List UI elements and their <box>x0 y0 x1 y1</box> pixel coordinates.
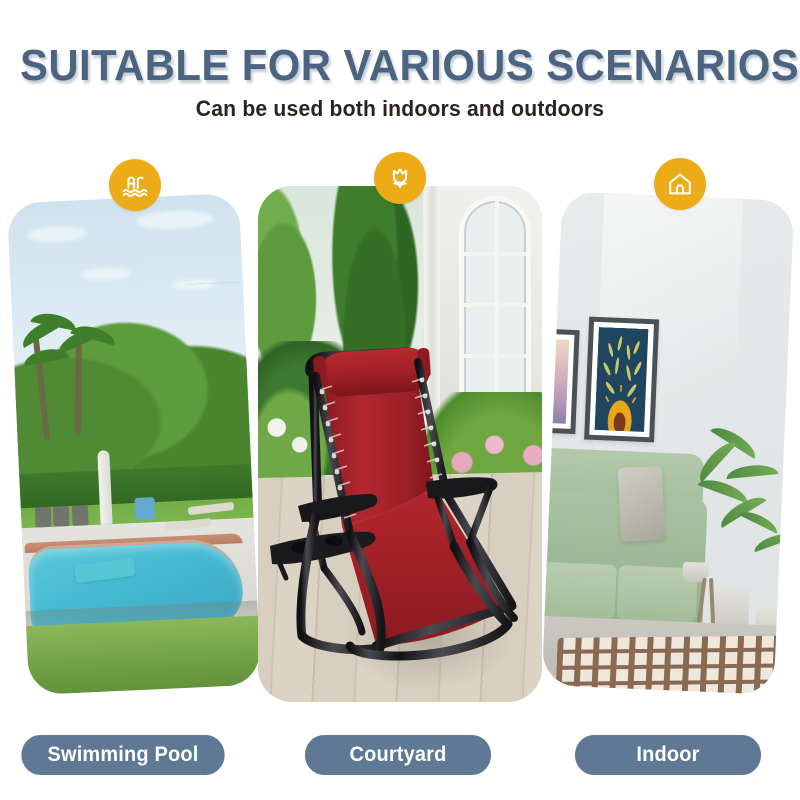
palm-trunk <box>75 343 82 435</box>
page-subtitle: Can be used both indoors and outdoors <box>16 96 784 122</box>
wall-art-canvas <box>595 327 649 432</box>
house-home-icon <box>665 169 695 199</box>
wall-art-frame <box>542 328 580 434</box>
scenario-poster: SUITABLE FOR VARIOUS SCENARIOS Can be us… <box>0 0 800 800</box>
scene-image-indoor <box>542 191 794 694</box>
scene-image-courtyard <box>258 186 542 702</box>
flower-tulip-icon <box>385 163 415 193</box>
lawn-foreground <box>17 615 261 695</box>
throw-pillow <box>617 466 664 542</box>
page-title: SUITABLE FOR VARIOUS SCENARIOS <box>20 44 780 88</box>
patio-chair <box>35 507 52 528</box>
scene-card-courtyard <box>258 186 542 702</box>
badge-swimming-pool <box>109 159 161 211</box>
badge-courtyard <box>374 152 426 204</box>
scene-label-indoor[interactable]: Indoor <box>575 735 761 775</box>
scene-card-indoor <box>542 191 794 694</box>
blue-lounge-chair <box>134 497 155 520</box>
scene-label-swimming-pool[interactable]: Swimming Pool <box>21 735 224 775</box>
scene-label-text: Indoor <box>636 743 699 767</box>
pool-ladder-waves-icon <box>120 170 150 200</box>
badge-indoor <box>654 158 706 210</box>
sofa-cushion <box>542 561 617 619</box>
patio-chair <box>53 506 70 527</box>
scene-image-swimming-pool <box>7 193 261 695</box>
patio-chair <box>72 505 89 526</box>
zero-gravity-chair <box>258 186 542 702</box>
scene-card-swimming-pool <box>7 193 261 695</box>
scene-label-text: Swimming Pool <box>47 743 198 767</box>
wall-art-canvas <box>542 339 570 424</box>
wall-art-frame <box>585 316 660 442</box>
area-rug <box>555 635 794 695</box>
scene-label-text: Courtyard <box>349 743 446 767</box>
scene-label-courtyard[interactable]: Courtyard <box>305 735 491 775</box>
